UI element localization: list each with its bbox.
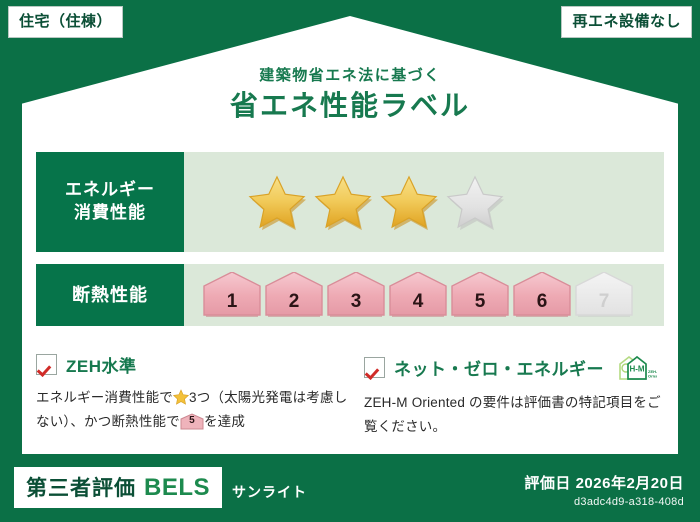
insulation-performance-row: 断熱性能 1234567 [36, 264, 664, 326]
svg-text:H-M: H-M [629, 365, 644, 374]
insulation-chip-value: 7 [599, 291, 610, 318]
energy-performance-label: 住宅（住棟） 再エネ設備なし 建築物省エネ法に基づく 省エネ性能ラベル エネルギ… [0, 0, 700, 522]
insulation-chips-container: 1234567 [184, 264, 664, 326]
insulation-chip-value: 4 [413, 291, 424, 318]
bels-badge: 第三者評価 BELS [14, 467, 222, 508]
zeh-body-chip-value: 5 [180, 412, 204, 430]
insulation-chip-filled: 4 [388, 272, 448, 318]
insulation-chip-value: 2 [289, 291, 300, 318]
zeh-standard-title: ZEH水準 [66, 352, 137, 377]
label-title: 省エネ性能ラベル [0, 84, 700, 124]
bels-en-text: BELS [144, 474, 210, 502]
net-zero-energy-block: ネット・ゼロ・エネルギー H-M ZEH-M Oriented ZEH-M Or… [364, 352, 664, 438]
energy-stars-container [184, 152, 664, 252]
insulation-chip-value: 5 [475, 291, 486, 318]
house-chip-icon: 5 [180, 413, 204, 430]
bels-jp-text: 第三者評価 [26, 472, 136, 502]
tag-renewable-energy: 再エネ設備なし [561, 6, 692, 38]
label-subtitle: 建築物省エネ法に基づく [0, 64, 700, 85]
brand-name: サンライト [232, 482, 307, 502]
energy-key-line2: 消費性能 [65, 202, 155, 225]
insulation-chip-filled: 6 [512, 272, 572, 318]
evaluation-date: 評価日 2026年2月20日 [524, 472, 684, 493]
star-icon-filled [312, 172, 374, 232]
insulation-chip-filled: 1 [202, 272, 262, 318]
footer-meta: 評価日 2026年2月20日 d3adc4d9-a318-408d [524, 472, 684, 508]
star-icon [173, 389, 189, 405]
net-zero-energy-title: ネット・ゼロ・エネルギー [394, 355, 604, 380]
zeh-body-part3: を達成 [204, 414, 245, 429]
energy-key-line1: エネルギー [65, 179, 155, 202]
net-zero-energy-body: ZEH-M Oriented の要件は評価書の特記項目をご覧ください。 [364, 391, 664, 438]
insulation-chip-value: 1 [227, 291, 238, 318]
star-icon-empty [444, 172, 506, 232]
insulation-chip-filled: 3 [326, 272, 386, 318]
zeh-body-part1: エネルギー消費性能で [36, 390, 173, 405]
tag-building-type: 住宅（住棟） [8, 6, 123, 38]
star-icon-filled [378, 172, 440, 232]
label-id: d3adc4d9-a318-408d [524, 496, 684, 508]
insulation-chip-value: 6 [537, 291, 548, 318]
insulation-performance-label-key: 断熱性能 [36, 264, 184, 326]
energy-performance-label-key: エネルギー 消費性能 [36, 152, 184, 252]
zeh-standard-block: ZEH水準 エネルギー消費性能で3つ（太陽光発電は考慮しない）、かつ断熱性能で5… [36, 352, 356, 433]
zeh-standard-body: エネルギー消費性能で3つ（太陽光発電は考慮しない）、かつ断熱性能で5を達成 [36, 386, 356, 433]
insulation-chip-filled: 5 [450, 272, 510, 318]
checkbox-checked-icon [364, 357, 385, 378]
svg-text:Oriented: Oriented [648, 374, 657, 379]
insulation-chip-filled: 2 [264, 272, 324, 318]
energy-performance-row: エネルギー 消費性能 [36, 152, 664, 252]
net-zero-energy-header: ネット・ゼロ・エネルギー H-M ZEH-M Oriented [364, 352, 664, 382]
insulation-chip-empty: 7 [574, 272, 634, 318]
zeh-standard-header: ZEH水準 [36, 352, 356, 377]
checkbox-checked-icon [36, 354, 57, 375]
insulation-chip-value: 3 [351, 291, 362, 318]
zeh-m-oriented-logo-icon: H-M ZEH-M Oriented [617, 352, 657, 382]
star-icon-filled [246, 172, 308, 232]
